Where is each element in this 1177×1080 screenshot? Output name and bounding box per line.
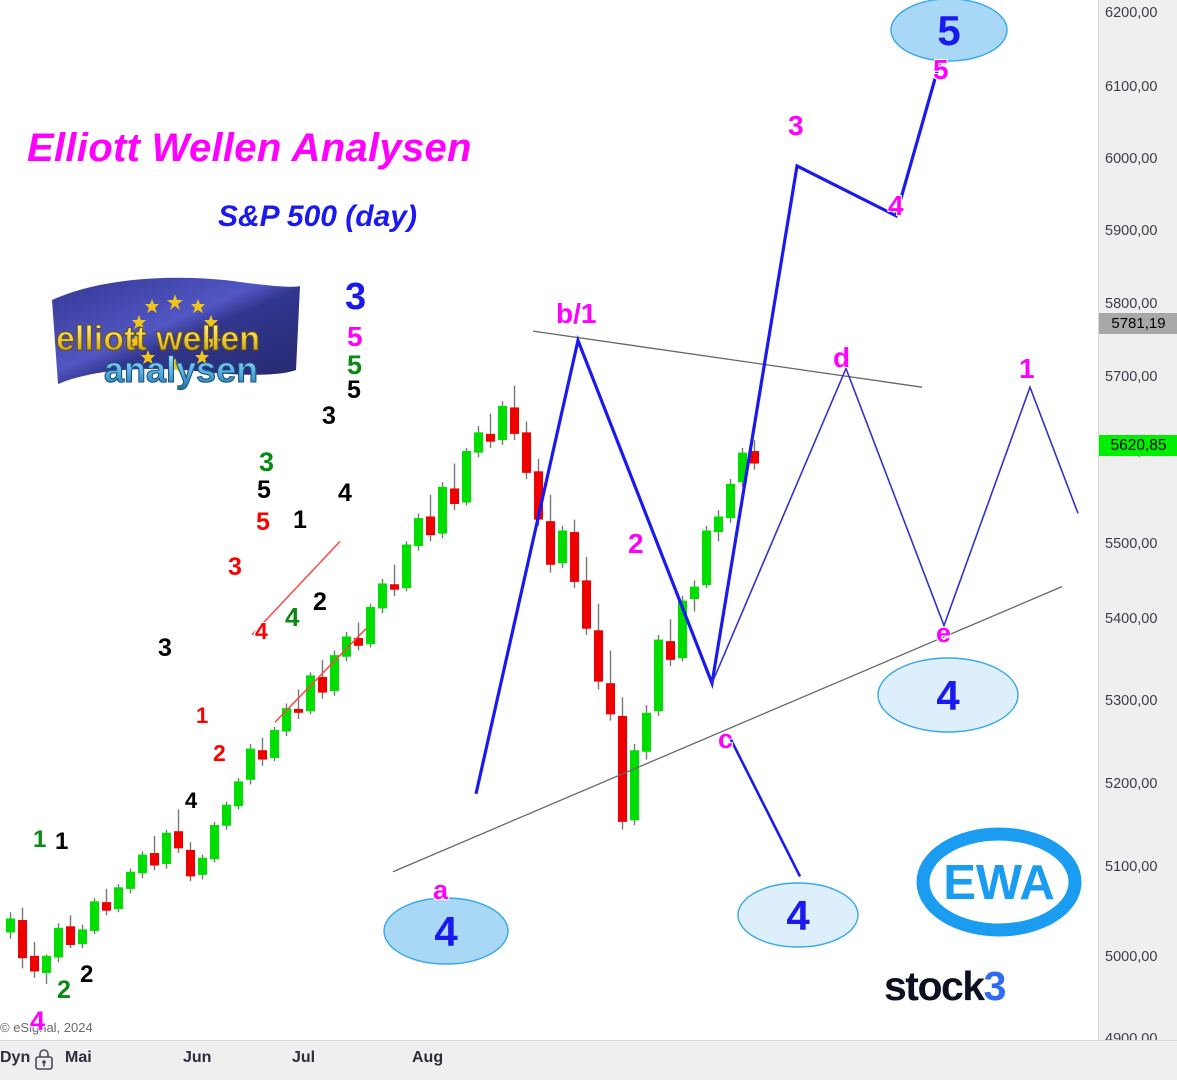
projection-path-de[interactable]	[712, 368, 1078, 683]
degree-label: 4	[936, 672, 960, 719]
candle	[234, 778, 243, 809]
price-axis[interactable]: 6200,006100,006000,005900,005800,005700,…	[1098, 0, 1177, 1040]
elliott-wellen-analysen-logo: elliott wellen analysen	[44, 272, 306, 398]
candle	[54, 923, 63, 962]
time-tick: Aug	[412, 1049, 443, 1067]
candle	[210, 822, 219, 863]
candle	[390, 565, 399, 596]
wave-label: 3	[228, 555, 242, 580]
price-tick: 5400,00	[1105, 611, 1157, 627]
candle	[666, 619, 675, 666]
wave-label: 2	[80, 963, 93, 987]
wave-label: 1	[33, 828, 46, 852]
candle	[318, 660, 327, 699]
candle	[582, 557, 591, 635]
wave-label: 3	[158, 636, 172, 661]
candle	[150, 836, 159, 870]
esignal-watermark: © eSignal, 2024	[0, 1020, 93, 1035]
degree-label: 5	[937, 7, 960, 54]
candle	[114, 884, 123, 912]
candle	[426, 495, 435, 542]
stock3-digit: 3	[984, 963, 1005, 1009]
candle	[66, 915, 75, 948]
price-tick: 5800,00	[1105, 296, 1157, 312]
time-tick: Jul	[292, 1049, 315, 1067]
candle	[222, 802, 231, 830]
degree-marker: 5	[891, 0, 1007, 61]
candle	[594, 604, 603, 690]
candle	[6, 912, 15, 938]
time-tick: Jun	[183, 1049, 211, 1067]
wave-label: 4	[285, 604, 299, 630]
price-tick: 5000,00	[1105, 949, 1157, 965]
wave-label: 5	[347, 378, 361, 403]
logo-line2: analysen	[104, 349, 258, 390]
wave-label: 4	[255, 620, 268, 643]
candle	[558, 526, 567, 568]
chart-screenshot: $SPX, S&P 500 INDEX, D, 15:30-22:00 (Dyn…	[0, 0, 1177, 1080]
wave-label: 4	[185, 790, 197, 812]
candle	[198, 855, 207, 880]
price-tick: 5100,00	[1105, 859, 1157, 875]
wave-label: 3	[259, 449, 274, 476]
wave-label: 4	[338, 481, 352, 506]
mark-price-badge[interactable]: 5781,19	[1099, 313, 1177, 334]
wave-label: 2	[313, 590, 327, 615]
candle	[618, 697, 627, 829]
wave-label: 5	[347, 323, 363, 351]
candle	[522, 421, 531, 479]
candle	[714, 510, 723, 541]
candle	[726, 479, 735, 523]
candle	[102, 889, 111, 915]
wave-label: 4	[888, 192, 904, 220]
candle	[510, 386, 519, 441]
candle	[654, 635, 663, 716]
price-tick: 5300,00	[1105, 693, 1157, 709]
projection-path-main[interactable]	[476, 37, 947, 794]
degree-marker: 4	[384, 898, 508, 964]
wave-label: a	[433, 877, 448, 904]
candle	[246, 744, 255, 785]
wave-label: e	[936, 620, 951, 647]
candle	[174, 809, 183, 853]
wave-label: 5	[347, 352, 362, 379]
candle	[630, 744, 639, 825]
wave-label: 1	[1019, 355, 1035, 383]
candle	[42, 954, 51, 984]
wave-label: 3	[345, 278, 366, 316]
candle	[546, 495, 555, 573]
candle	[642, 705, 651, 760]
candle	[270, 727, 279, 761]
price-tick: 6200,00	[1105, 5, 1157, 21]
price-tick: 5900,00	[1105, 223, 1157, 239]
time-tick: Mai	[65, 1049, 92, 1067]
candle	[282, 703, 291, 736]
price-tick: 5500,00	[1105, 536, 1157, 552]
candle	[366, 604, 375, 648]
wave-label: 1	[55, 830, 68, 854]
wave-label: 2	[57, 978, 71, 1003]
candle	[78, 925, 87, 948]
wave-label: b/1	[556, 300, 596, 328]
candle	[690, 580, 699, 611]
candle	[138, 851, 147, 877]
candle	[438, 482, 447, 538]
wave-label: 3	[322, 404, 336, 429]
price-tick: 5700,00	[1105, 369, 1157, 385]
candle	[702, 526, 711, 588]
candle	[90, 898, 99, 934]
candle	[162, 830, 171, 869]
candle	[486, 414, 495, 448]
ewa-badge-logo: EWA	[913, 827, 1085, 937]
last-price-badge[interactable]: 5620,85	[1099, 435, 1177, 456]
dyn-label[interactable]: Dyn	[0, 1049, 30, 1067]
wave-label: 2	[628, 530, 644, 558]
candle	[462, 448, 471, 506]
wave-label: 5	[256, 510, 270, 535]
candle	[402, 541, 411, 591]
time-axis[interactable]: Dyn MaiJunJulAug	[0, 1040, 1177, 1080]
candle	[450, 464, 459, 511]
candle	[258, 738, 267, 766]
wave-label: 3	[788, 112, 804, 140]
price-tick: 6100,00	[1105, 79, 1157, 95]
candle	[498, 401, 507, 445]
candle	[378, 579, 387, 613]
price-tick: 5200,00	[1105, 776, 1157, 792]
candle	[186, 842, 195, 881]
stock3-word: stock	[884, 963, 984, 1009]
wave-label: d	[833, 344, 850, 372]
wave-label: 5	[933, 56, 949, 84]
wave-label: 4	[30, 1008, 45, 1035]
candle	[342, 632, 351, 662]
candle	[474, 426, 483, 457]
wave-label: 5	[257, 478, 271, 503]
stock3-logo: stock3	[884, 963, 1094, 1009]
wave-label: 1	[196, 705, 208, 727]
wave-label: 2	[213, 742, 226, 765]
wave-label: c	[718, 726, 733, 753]
degree-label: 4	[434, 908, 458, 955]
candle	[18, 908, 27, 969]
wave-label: 1	[293, 508, 307, 533]
candle	[570, 520, 579, 589]
page-subtitle: S&P 500 (day)	[218, 200, 417, 234]
candle	[126, 869, 135, 894]
degree-marker: 4	[878, 658, 1018, 732]
candle	[306, 672, 315, 714]
channel-line[interactable]	[275, 629, 366, 722]
candle	[414, 513, 423, 550]
candle	[606, 650, 615, 720]
candle	[30, 942, 39, 978]
lock-icon[interactable]	[33, 1047, 55, 1071]
degree-marker: 4	[738, 883, 858, 947]
ewa-text: EWA	[943, 856, 1055, 910]
projection-path-abc[interactable]	[730, 738, 800, 877]
price-tick: 6000,00	[1105, 151, 1157, 167]
degree-label: 4	[786, 892, 810, 939]
page-title: Elliott Wellen Analysen	[27, 126, 472, 171]
